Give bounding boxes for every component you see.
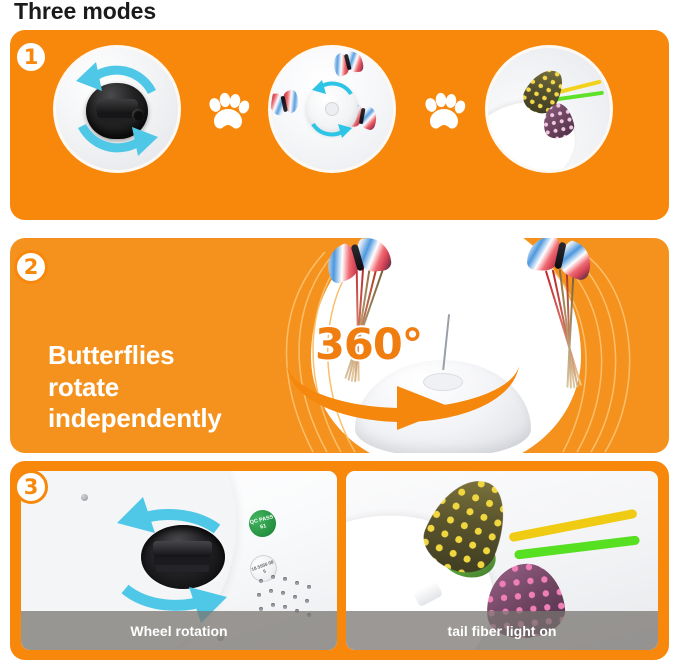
infographic-page: Three modes [0,0,679,670]
circle-frame [271,48,393,170]
photo-tail-fiber-light-on: tail fiber light on [346,471,658,650]
panel-three-modes: Three modes,namely wheel rotation butter… [10,30,669,220]
paw-print-icon [206,92,250,132]
step-badge-3: 3 [14,470,48,504]
caption-wheel-rotation: Three modes,namely wheel rotation [40,218,220,220]
page-title: Three modes [14,0,156,25]
circle-frame [488,48,610,170]
mode-image-butterfly-rotation [271,48,393,170]
headline-line-2: rotate [48,372,222,404]
panel1-row [10,30,669,220]
headline-line-3: independently [48,403,222,435]
panel2-headline: Butterflies rotate independently [48,340,222,435]
panel2-artwork: 360° [259,238,669,453]
rotation-arrows-icon [56,48,178,170]
rotation-arrows-icon [271,48,393,170]
mode-image-wheel-rotation [56,48,178,170]
step-badge-2: 2 [14,250,48,284]
paw-print-icon [422,92,466,132]
headline-line-1: Butterflies [48,340,222,372]
caption-tail-fiber-light-on: tail fiber light on [346,611,658,650]
mode-image-tail-fiber-on [488,48,610,170]
photo-wheel-rotation: QC PASS 61 18 5555 08 5 Wheel rotation [21,471,337,650]
step-badge-1: 1 [14,40,48,74]
degree-360-label: 360° [315,320,422,370]
caption-wheel-rotation: Wheel rotation [21,611,337,650]
circle-frame [56,48,178,170]
